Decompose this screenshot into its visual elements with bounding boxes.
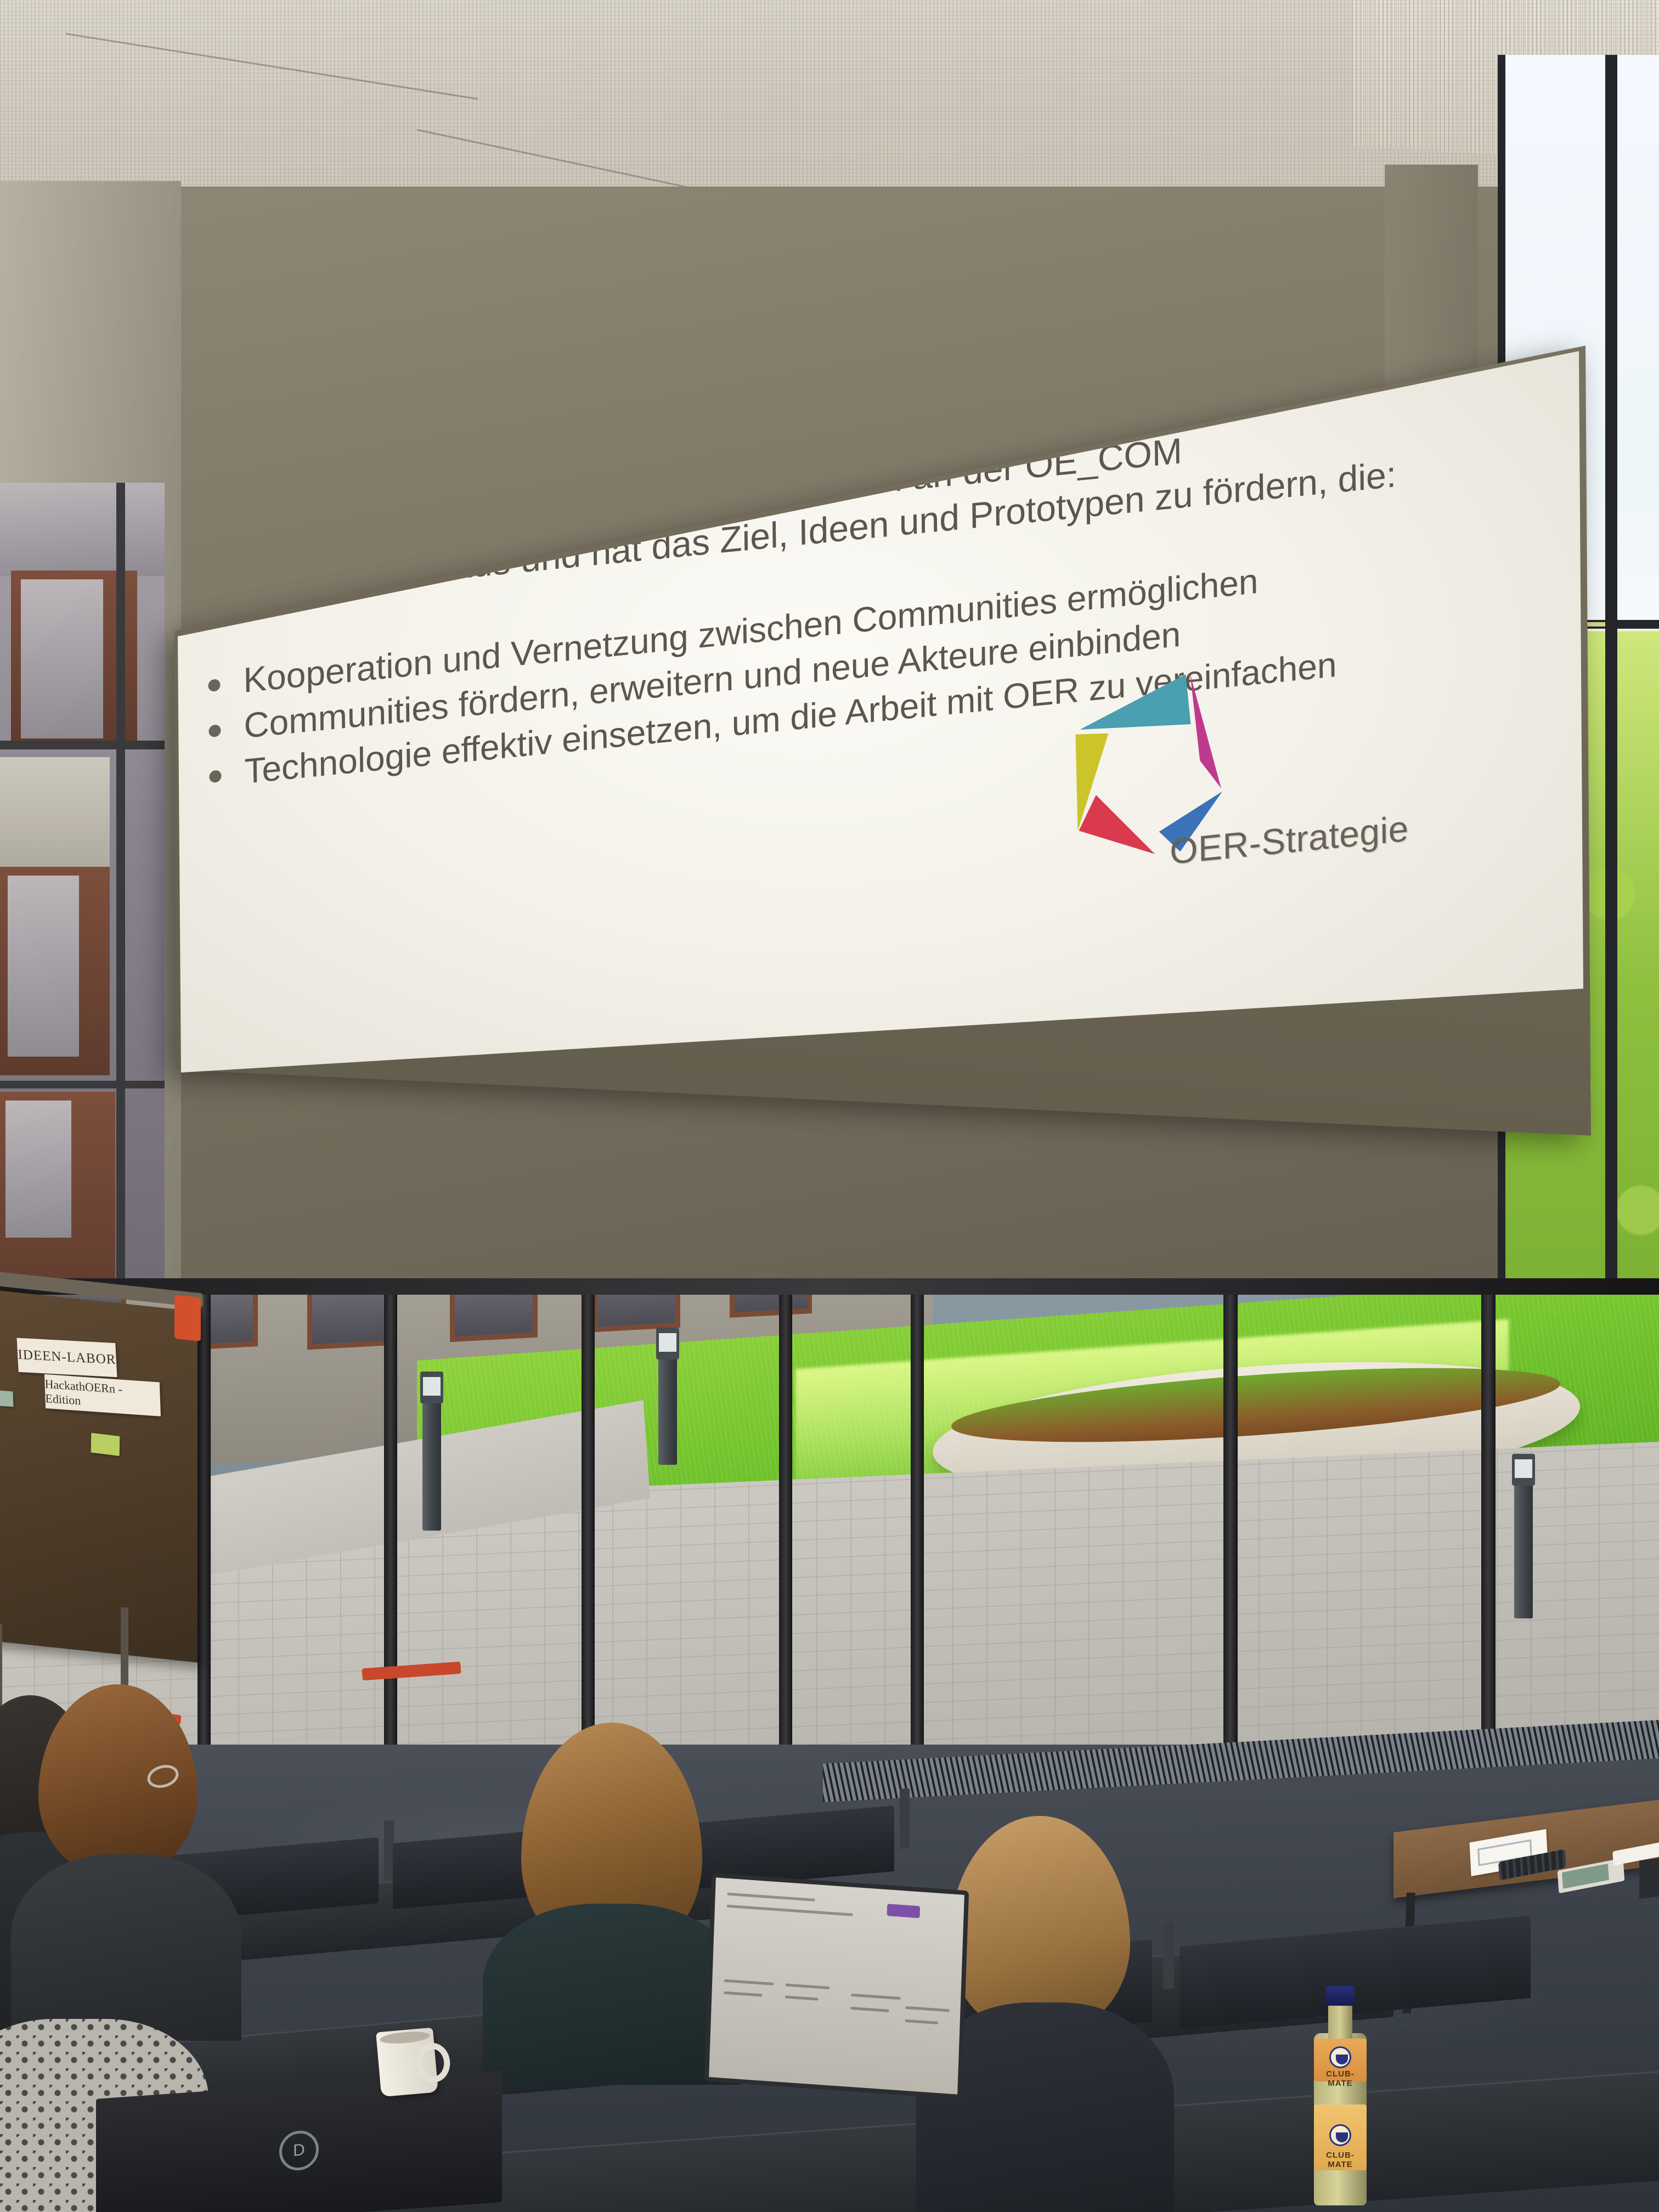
bollard-light (422, 1372, 441, 1531)
bottle-brand-bottom: CLUB-MATE (1314, 2151, 1367, 2169)
projection-screen: Hackath OER n 1.HackathOERn in Göttingen… (165, 181, 1591, 1223)
courtyard-view (0, 1278, 1659, 1788)
seat-divider (900, 1788, 910, 1849)
lecture-hall-photo: Hackath OER n 1.HackathOERn in Göttingen… (0, 0, 1659, 2212)
hackathoern-logo: Hackath OER n (1034, 248, 1397, 432)
audience-person-shoulders (483, 1904, 741, 2085)
bollard-light (1514, 1454, 1533, 1618)
slide-title: 1.HackathOERn in Göttingen (253, 403, 860, 513)
club-mate-bottle[interactable]: CLUB-MATE CLUB-MATE (1314, 1986, 1367, 2205)
blob-orange (1197, 284, 1285, 389)
window-head-rail (0, 1278, 1659, 1295)
pentagon-triangle-magenta (1190, 671, 1221, 791)
window-mullion (384, 1278, 397, 1788)
courtyard-window-wall (0, 1278, 1659, 1788)
pinboard-sign-ideen-labor: IDEEN-LABOR (17, 1338, 117, 1378)
hackathoern-blobs (1193, 250, 1375, 405)
bottle-neck (1328, 2000, 1352, 2044)
laptop-open-screen[interactable] (704, 1873, 969, 2100)
blob-red (1227, 308, 1324, 405)
sticky-note (0, 1390, 13, 1407)
bottle-cap (1326, 1986, 1355, 2006)
window-mullion (198, 1278, 211, 1788)
pinboard-sign-hackathoern-edition: HackathOERn - Edition (44, 1374, 161, 1417)
hackathoern-word-tail: n (1335, 313, 1363, 368)
blob-yellow (1286, 272, 1370, 373)
hackathoern-word-white: OER (1216, 321, 1310, 381)
sticky-note (91, 1433, 120, 1456)
laptop-screen-content (717, 1886, 957, 2086)
window-mullion (911, 1278, 924, 1788)
dell-logo: D (279, 2129, 319, 2171)
slide-title-text: HackathOERn in Göttingen (310, 403, 860, 507)
oer-strategie-logo: OER-Strategie (1060, 642, 1414, 907)
window-mullion (1223, 1278, 1238, 1788)
bottle-label-top: CLUB-MATE (1314, 2039, 1367, 2081)
pinboard-corner-bracket (174, 1295, 201, 1341)
pinboard: IDEEN-LABOR HackathOERn - Edition (0, 1289, 198, 1663)
bollard-light (658, 1328, 677, 1465)
mug-rim (379, 2030, 430, 2045)
left-glass-wall (0, 483, 165, 1317)
blob-green (1266, 276, 1344, 366)
blob-blue (1246, 256, 1329, 355)
bottle-label-main: CLUB-MATE (1314, 2104, 1367, 2170)
audience-person-shoulders (11, 1854, 241, 2041)
window-mullion (582, 1278, 595, 1788)
window-mullion (779, 1278, 792, 1788)
bottle-brand-top: CLUB-MATE (1314, 2069, 1367, 2088)
pentagon-triangle-teal (1079, 674, 1190, 735)
presentation-slide: Hackath OER n 1.HackathOERn in Göttingen… (178, 208, 1591, 1081)
slide-section-number: 1. (253, 459, 292, 512)
pentagon-triangle-red (1079, 789, 1155, 862)
hackathoern-word-dark: Hackath (1035, 332, 1211, 403)
window-mullion (1481, 1278, 1496, 1788)
seat-divider (1163, 1922, 1174, 1989)
coffee-mug[interactable] (376, 2028, 438, 2097)
